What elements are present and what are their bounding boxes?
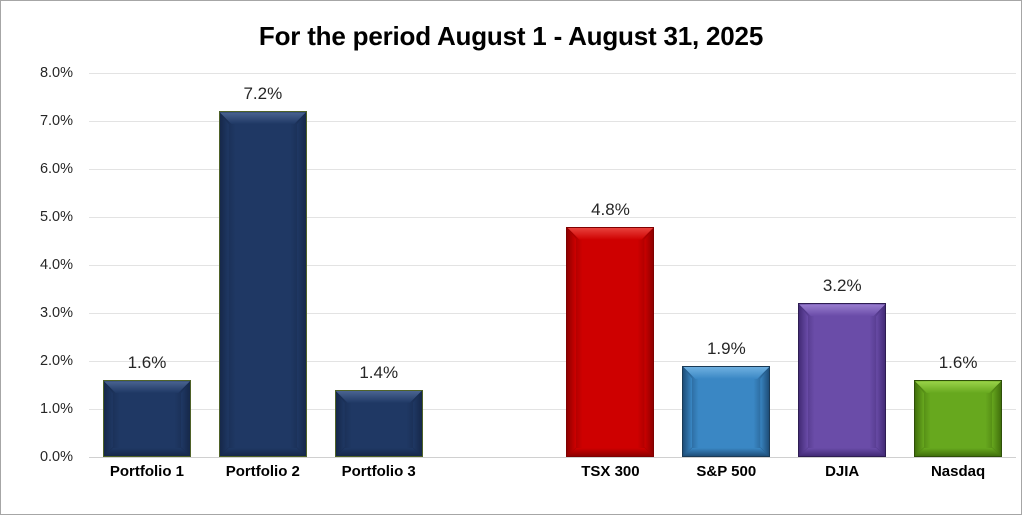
bar-bevel-right — [644, 228, 653, 456]
y-axis-tick-label: 5.0% — [40, 209, 73, 225]
bar-bevel-top — [220, 112, 306, 124]
bar-body — [914, 380, 1002, 457]
bar-bevel-bottom — [220, 448, 306, 456]
bar-slot: 1.6% — [89, 73, 205, 457]
bar-slot: 1.6% — [900, 73, 1016, 457]
bar-djia[interactable] — [798, 303, 886, 457]
bar-bevel-right — [992, 381, 1001, 456]
x-axis-label: Nasdaq — [900, 463, 1016, 480]
bar-bevel-right — [760, 367, 769, 456]
bar-portfolio-3[interactable] — [335, 390, 423, 457]
bar-bevel-bottom — [336, 448, 422, 456]
bar-data-label: 1.9% — [668, 339, 784, 359]
bar-bevel-top — [915, 381, 1001, 393]
y-axis-tick-label: 4.0% — [40, 257, 73, 273]
y-axis-tick-label: 3.0% — [40, 305, 73, 321]
bar-bevel-top — [567, 228, 653, 240]
bar-bevel-left — [220, 112, 229, 456]
y-axis-tick-label: 8.0% — [40, 65, 73, 81]
bar-data-label: 1.6% — [900, 353, 1016, 373]
bar-body — [103, 380, 191, 457]
bar-bevel-top — [799, 304, 885, 316]
bar-bevel-left — [799, 304, 808, 456]
bar-data-label: 7.2% — [205, 84, 321, 104]
bar-slot-empty — [437, 73, 553, 457]
bar-bevel-left — [104, 381, 113, 456]
y-axis-tick-label: 7.0% — [40, 113, 73, 129]
bar-face — [799, 304, 885, 456]
bar-slot: 3.2% — [784, 73, 900, 457]
bar-bevel-bottom — [104, 448, 190, 456]
y-axis-tick-label: 2.0% — [40, 353, 73, 369]
bar-slot: 7.2% — [205, 73, 321, 457]
bar-bevel-left — [683, 367, 692, 456]
bar-slot: 4.8% — [553, 73, 669, 457]
x-axis-label: Portfolio 1 — [89, 463, 205, 480]
bar-bevel-left — [567, 228, 576, 456]
bar-bevel-left — [915, 381, 924, 456]
bar-bevel-right — [297, 112, 306, 456]
x-axis-label: TSX 300 — [553, 463, 669, 480]
y-axis: 8.0%7.0%6.0%5.0%4.0%3.0%2.0%1.0%0.0% — [1, 73, 83, 457]
bar-s-p-500[interactable] — [682, 366, 770, 457]
bar-body — [682, 366, 770, 457]
y-axis-tick-label: 1.0% — [40, 401, 73, 417]
bar-portfolio-2[interactable] — [219, 111, 307, 457]
x-axis-label: Portfolio 2 — [205, 463, 321, 480]
bar-face — [683, 367, 769, 456]
chart-title: For the period August 1 - August 31, 202… — [1, 21, 1021, 52]
bar-bevel-right — [181, 381, 190, 456]
bar-data-label: 1.6% — [89, 353, 205, 373]
bar-slot: 1.9% — [668, 73, 784, 457]
bars-layer: 1.6%7.2%1.4%4.8%1.9%3.2%1.6% — [89, 73, 1016, 457]
bar-nasdaq[interactable] — [914, 380, 1002, 457]
bar-bevel-top — [683, 367, 769, 379]
bar-body — [566, 227, 654, 457]
bar-bevel-bottom — [567, 448, 653, 456]
bar-face — [220, 112, 306, 456]
bar-bevel-top — [104, 381, 190, 393]
bar-body — [335, 390, 423, 457]
bar-data-label: 3.2% — [784, 276, 900, 296]
x-axis: Portfolio 1Portfolio 2Portfolio 3TSX 300… — [89, 463, 1016, 493]
y-axis-tick-label: 6.0% — [40, 161, 73, 177]
bar-slot: 1.4% — [321, 73, 437, 457]
axis-line-zero — [89, 457, 1016, 458]
bar-data-label: 1.4% — [321, 363, 437, 383]
bar-bevel-bottom — [799, 448, 885, 456]
bar-body — [219, 111, 307, 457]
bar-bevel-bottom — [683, 448, 769, 456]
x-axis-label: S&P 500 — [668, 463, 784, 480]
x-axis-label: DJIA — [784, 463, 900, 480]
y-axis-tick-label: 0.0% — [40, 449, 73, 465]
bar-face — [567, 228, 653, 456]
bar-body — [798, 303, 886, 457]
chart-container: For the period August 1 - August 31, 202… — [0, 0, 1022, 515]
bar-data-label: 4.8% — [553, 200, 669, 220]
bar-bevel-right — [876, 304, 885, 456]
bar-bevel-bottom — [915, 448, 1001, 456]
bar-portfolio-1[interactable] — [103, 380, 191, 457]
x-axis-label: Portfolio 3 — [321, 463, 437, 480]
bar-bevel-top — [336, 391, 422, 403]
bar-tsx-300[interactable] — [566, 227, 654, 457]
